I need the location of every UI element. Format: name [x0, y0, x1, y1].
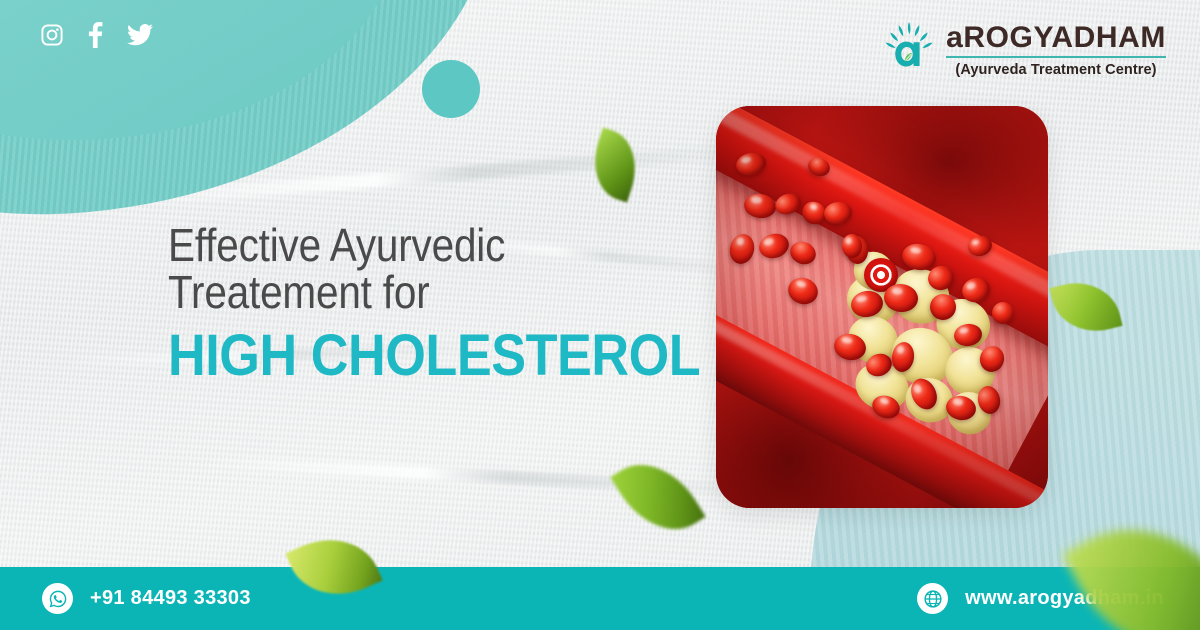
footer-website[interactable]: www.arogyadham.in	[917, 583, 1164, 614]
artery-illustration-layers	[716, 106, 1048, 508]
leaf-mid-center-icon	[610, 445, 705, 548]
globe-icon	[917, 583, 948, 614]
logo-name: aROGYADHAM	[946, 23, 1166, 58]
headline-block: Effective Ayurvedic Treatement for HIGH …	[168, 222, 688, 387]
instagram-icon	[40, 23, 64, 47]
footer-phone-text: +91 84493 33303	[90, 587, 251, 610]
promo-banner: aROGYADHAM (Ayurveda Treatment Centre) E…	[0, 0, 1200, 630]
social-link-twitter[interactable]	[127, 24, 153, 46]
teal-dot	[422, 60, 480, 118]
paper-crease	[200, 455, 760, 496]
contact-footer-bar: +91 84493 33303 www.arogyadham.in	[0, 567, 1200, 630]
leaf-letter-a-icon	[883, 20, 935, 80]
headline-line-1: Effective Ayurvedic	[168, 222, 626, 269]
footer-phone[interactable]: +91 84493 33303	[42, 583, 251, 614]
leaf-top-center-icon	[583, 127, 647, 202]
brand-logo[interactable]: aROGYADHAM (Ayurveda Treatment Centre)	[883, 20, 1166, 80]
headline-line-2: Treatement for	[168, 269, 626, 316]
footer-website-text: www.arogyadham.in	[965, 587, 1164, 610]
headline-line-3-highlight: HIGH CHOLESTEROL	[168, 325, 636, 388]
whatsapp-icon	[42, 583, 73, 614]
logo-wordmark: aROGYADHAM (Ayurveda Treatment Centre)	[946, 23, 1166, 78]
social-links	[40, 22, 153, 48]
logo-tagline: (Ayurveda Treatment Centre)	[946, 63, 1166, 78]
social-link-facebook[interactable]	[88, 22, 103, 48]
twitter-icon	[127, 24, 153, 46]
cholesterol-artery-illustration	[716, 106, 1048, 508]
facebook-icon	[88, 22, 103, 48]
social-link-instagram[interactable]	[40, 23, 64, 47]
